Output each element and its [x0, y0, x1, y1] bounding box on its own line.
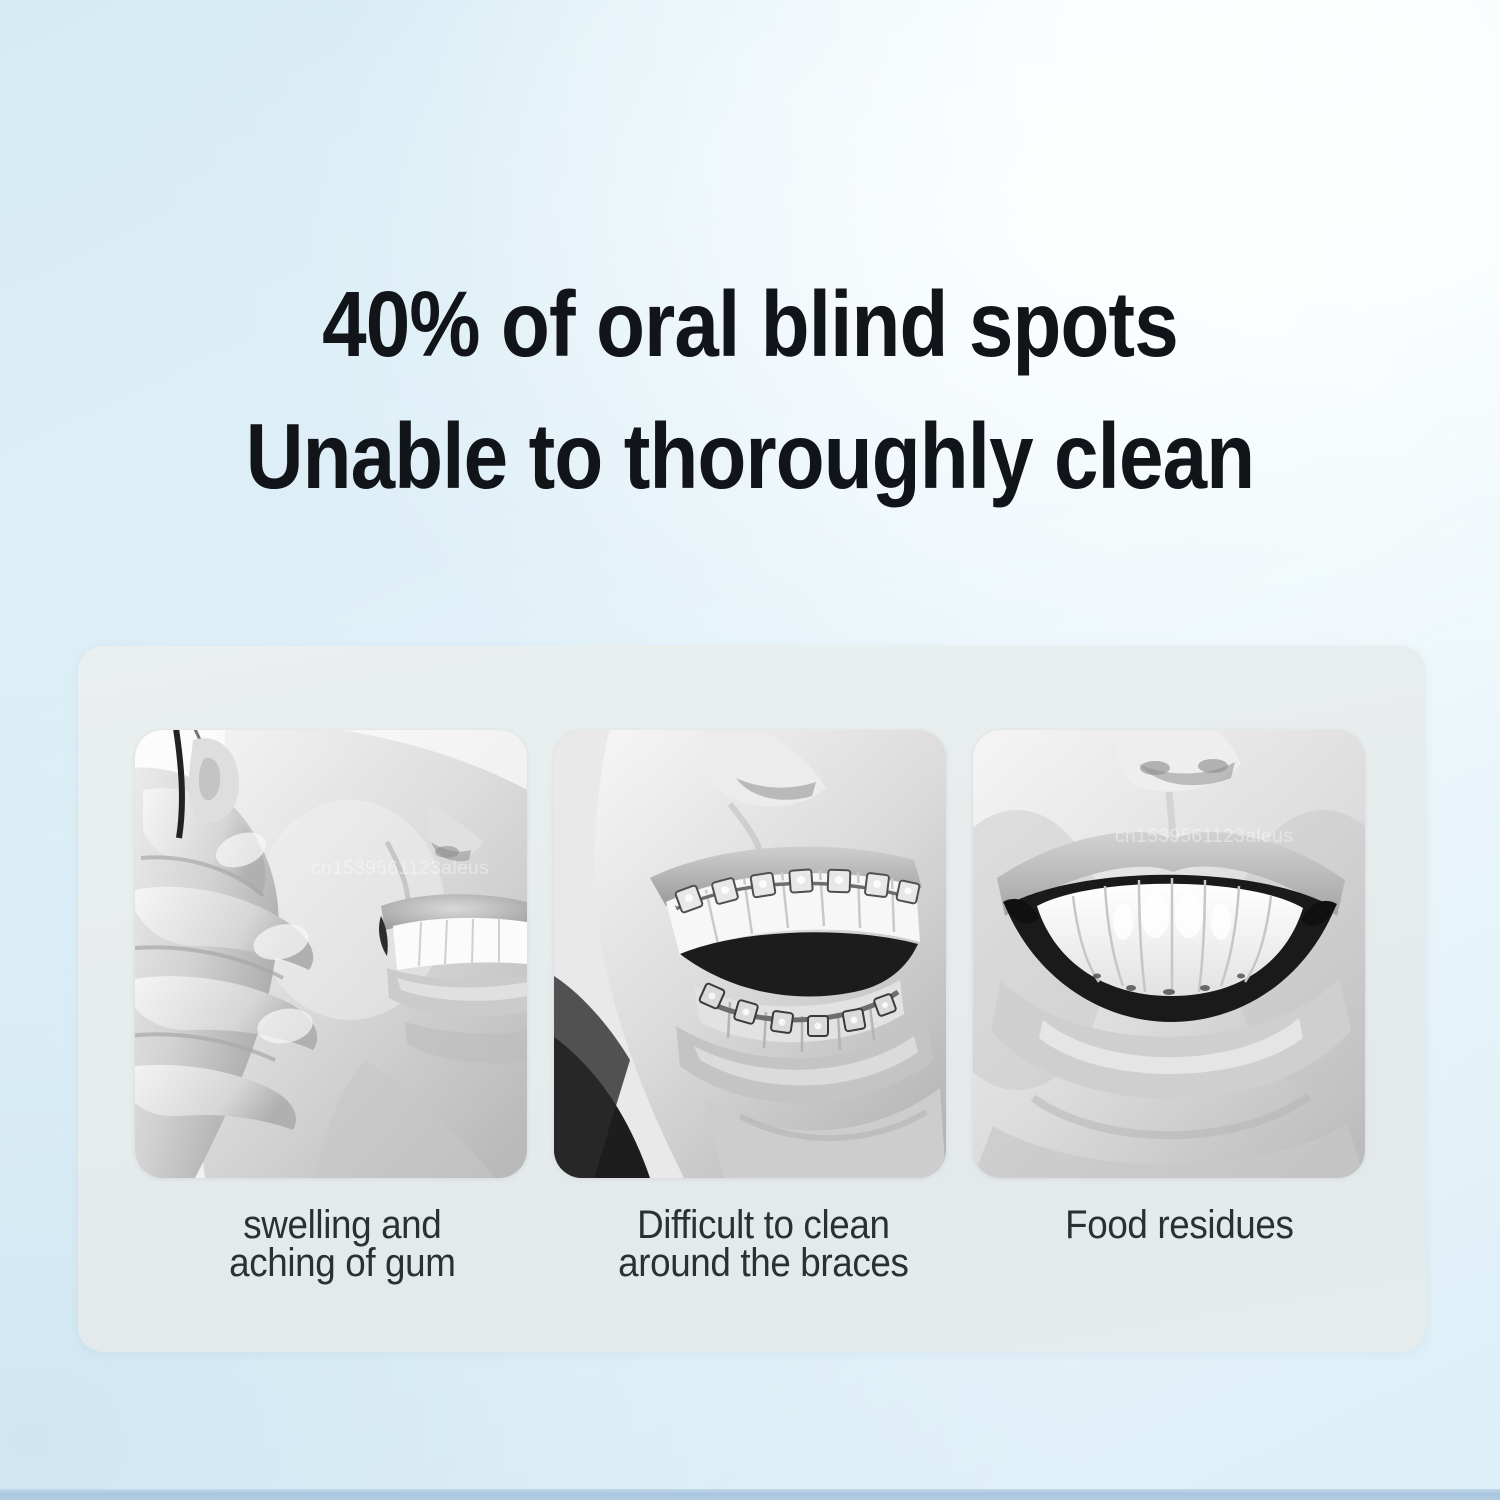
bottom-accent-strip	[0, 1489, 1500, 1500]
photo-food-residues	[973, 730, 1365, 1178]
headline-line-1: 40% of oral blind spots	[105, 258, 1395, 390]
caption-braces: Difficult to clean around the braces	[573, 1206, 953, 1283]
image-tile-gum-swelling[interactable]: cn1539561123aleus	[135, 730, 527, 1178]
caption-line-1: Difficult to clean	[573, 1206, 953, 1244]
caption-row: swelling and aching of gum Difficult to …	[118, 1206, 1386, 1283]
image-tile-row: cn1539561123aleus	[135, 730, 1365, 1178]
caption-gum-swelling: swelling and aching of gum	[153, 1206, 533, 1283]
caption-food-residues: Food residues	[990, 1206, 1370, 1283]
caption-line-1: swelling and	[153, 1206, 533, 1244]
photo-gum-swelling	[135, 730, 527, 1178]
caption-line-1: Food residues	[990, 1206, 1370, 1244]
photo-braces	[554, 730, 946, 1178]
caption-line-2: aching of gum	[153, 1244, 533, 1282]
image-tile-braces[interactable]	[554, 730, 946, 1178]
feature-panel: cn1539561123aleus	[78, 646, 1426, 1352]
caption-line-2: around the braces	[573, 1244, 953, 1282]
page-title: 40% of oral blind spots Unable to thorou…	[105, 258, 1395, 522]
image-tile-food-residues[interactable]: cn1539561123aleus	[973, 730, 1365, 1178]
headline-line-2: Unable to thoroughly clean	[105, 390, 1395, 522]
